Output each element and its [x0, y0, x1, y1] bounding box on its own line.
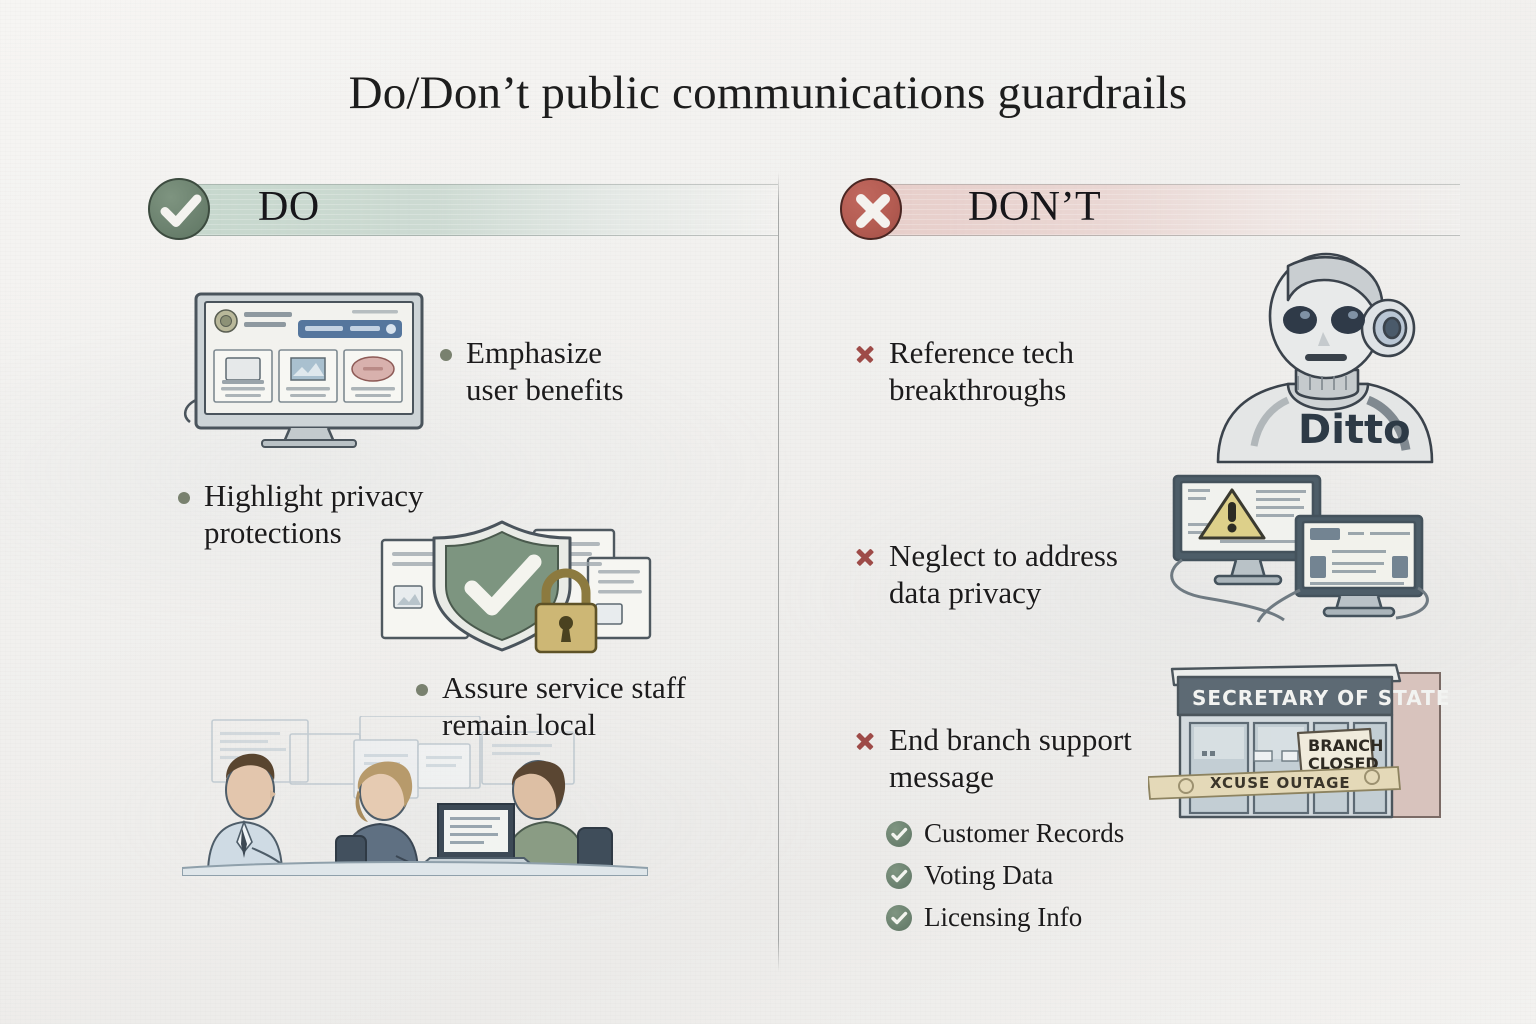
checklist-item: Voting Data [886, 860, 1124, 891]
checklist-item-label: Customer Records [924, 818, 1124, 849]
check-circle-icon [886, 863, 912, 889]
x-mark-icon [855, 344, 875, 364]
do-bullet-1-label: Emphasize user benefits [466, 335, 624, 408]
bullet-dot-icon [178, 492, 190, 504]
page-title: Do/Don’t public communications guardrail… [0, 66, 1536, 120]
dont-bullet-1: Reference tech breakthroughs [855, 335, 1074, 408]
x-mark-icon [855, 731, 875, 751]
do-column-header: DO [148, 178, 778, 240]
dont-column-label: DON’T [968, 183, 1101, 231]
x-mark-icon [855, 547, 875, 567]
check-circle-icon [148, 178, 210, 240]
do-bullet-3-label: Assure service staff remain local [442, 670, 686, 743]
dont-bullet-3-label: End branch support message [889, 722, 1132, 795]
x-circle-icon [840, 178, 902, 240]
dont-column-header: DON’T [840, 178, 1460, 240]
svg-text:Ditto: Ditto [1298, 407, 1411, 453]
dont-banner [878, 184, 1460, 236]
checklist-item: Customer Records [886, 818, 1124, 849]
do-bullet-2-label: Highlight privacy protections [204, 478, 424, 551]
closed-branch-storefront-illustration: SECRETARY OF STATE BRANCH CLOSED XCUSE O… [1148, 655, 1468, 820]
svg-text:XCUSE OUTAGE: XCUSE OUTAGE [1210, 774, 1351, 792]
dont-bullet-2-label: Neglect to address data privacy [889, 538, 1118, 611]
bullet-dot-icon [440, 349, 452, 361]
column-divider [778, 172, 779, 972]
infographic-page: Do/Don’t public communications guardrail… [0, 0, 1536, 1024]
checklist-item-label: Voting Data [924, 860, 1053, 891]
data-categories-checklist: Customer Records Voting Data Licensing I… [886, 818, 1124, 944]
checklist-item: Licensing Info [886, 902, 1124, 933]
do-bullet-3: Assure service staff remain local [416, 670, 686, 743]
svg-text:SECRETARY OF STATE: SECRETARY OF STATE [1192, 686, 1450, 710]
check-circle-icon [886, 821, 912, 847]
dont-bullet-2: Neglect to address data privacy [855, 538, 1118, 611]
svg-text:BRANCH: BRANCH [1308, 736, 1383, 755]
do-bullet-2: Highlight privacy protections [178, 478, 424, 551]
government-website-monitor-illustration [178, 288, 440, 448]
do-bullet-1: Emphasize user benefits [440, 335, 624, 408]
humanoid-robot-illustration: Ditto [1192, 250, 1466, 465]
bullet-dot-icon [416, 684, 428, 696]
dont-bullet-3: End branch support message [855, 722, 1132, 795]
check-circle-icon [886, 905, 912, 931]
do-column-label: DO [258, 183, 320, 231]
warning-monitors-illustration [1160, 468, 1460, 628]
checklist-item-label: Licensing Info [924, 902, 1082, 933]
dont-bullet-1-label: Reference tech breakthroughs [889, 335, 1074, 408]
